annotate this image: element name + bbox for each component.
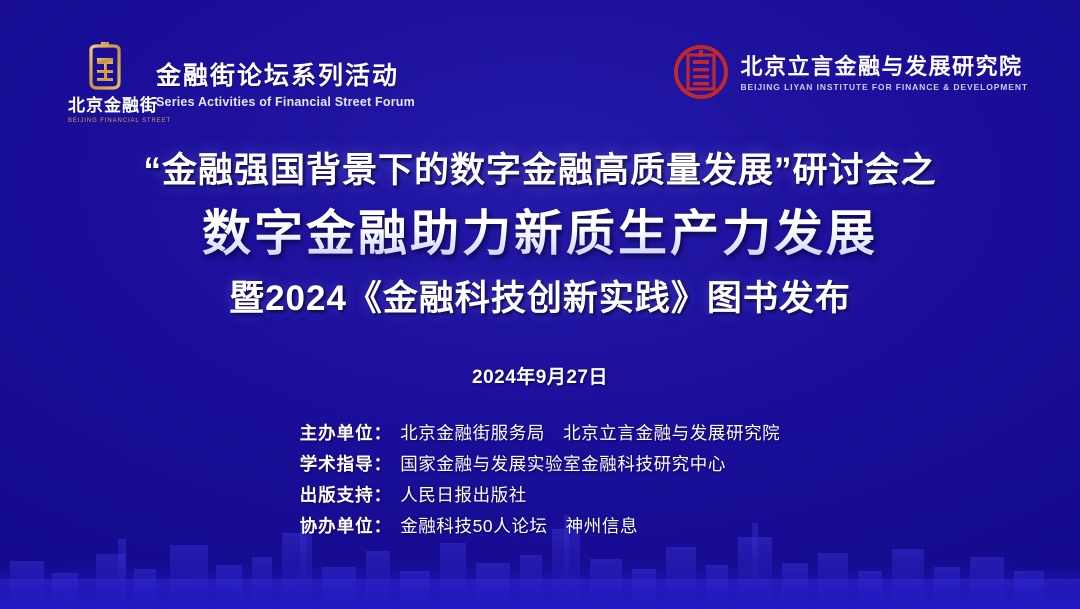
- financial-street-brand-cn: 北京金融街: [68, 97, 142, 116]
- organizer-table: 主办单位：北京金融街服务局 北京立言金融与发展研究院学术指导：国家金融与发展实验…: [300, 418, 781, 542]
- organizer-label: 出版支持：: [300, 480, 401, 511]
- event-date: 2024年9月27日: [0, 362, 1080, 389]
- organizer-value: 人民日报出版社: [400, 480, 780, 511]
- organizer-row: 主办单位：北京金融街服务局 北京立言金融与发展研究院: [300, 418, 781, 449]
- logo-financial-street: 北京金融街 BEIJING FINANCIAL STREET 金融街论坛系列活动…: [68, 40, 415, 124]
- organizer-value: 北京金融街服务局 北京立言金融与发展研究院: [400, 418, 780, 449]
- organizer-value: 国家金融与发展实验室金融科技研究中心: [400, 449, 780, 480]
- organizer-label: 协办单位：: [300, 511, 401, 542]
- forum-series-title-en: Series Activities of Financial Street Fo…: [156, 95, 415, 109]
- liyan-title-cn: 北京立言金融与发展研究院: [741, 54, 1028, 80]
- organizer-info-block: 主办单位：北京金融街服务局 北京立言金融与发展研究院学术指导：国家金融与发展实验…: [0, 418, 1080, 542]
- liyan-title-en: BEIJING LIYAN INSTITUTE FOR FINANCE & DE…: [741, 82, 1028, 92]
- organizer-value: 金融科技50人论坛 神州信息: [400, 511, 780, 542]
- organizer-row: 出版支持：人民日报出版社: [300, 480, 781, 511]
- title-line-2-main: 数字金融助力新质生产力发展: [0, 202, 1080, 266]
- organizer-row: 协办单位：金融科技50人论坛 神州信息: [300, 511, 781, 542]
- organizer-label: 主办单位：: [300, 418, 401, 449]
- poster-title-block: “金融强国背景下的数字金融高质量发展”研讨会之 数字金融助力新质生产力发展 暨2…: [0, 148, 1080, 321]
- logo-liyan-institute: 北京立言金融与发展研究院 BEIJING LIYAN INSTITUTE FOR…: [673, 44, 1028, 100]
- poster-canvas: 北京金融街 BEIJING FINANCIAL STREET 金融街论坛系列活动…: [0, 0, 1080, 609]
- financial-street-brand-en: BEIJING FINANCIAL STREET: [68, 118, 142, 124]
- title-line-1: “金融强国背景下的数字金融高质量发展”研讨会之: [0, 148, 1080, 194]
- title-line-3: 暨2024《金融科技创新实践》图书发布: [0, 276, 1080, 322]
- liyan-seal-icon: [673, 44, 729, 100]
- poster-header: 北京金融街 BEIJING FINANCIAL STREET 金融街论坛系列活动…: [0, 40, 1080, 132]
- organizer-label: 学术指导：: [300, 449, 401, 480]
- ground-glow: [0, 563, 1080, 609]
- organizer-row: 学术指导：国家金融与发展实验室金融科技研究中心: [300, 449, 781, 480]
- financial-street-mark: 北京金融街 BEIJING FINANCIAL STREET: [68, 40, 142, 124]
- forum-series-title-cn: 金融街论坛系列活动: [156, 61, 415, 92]
